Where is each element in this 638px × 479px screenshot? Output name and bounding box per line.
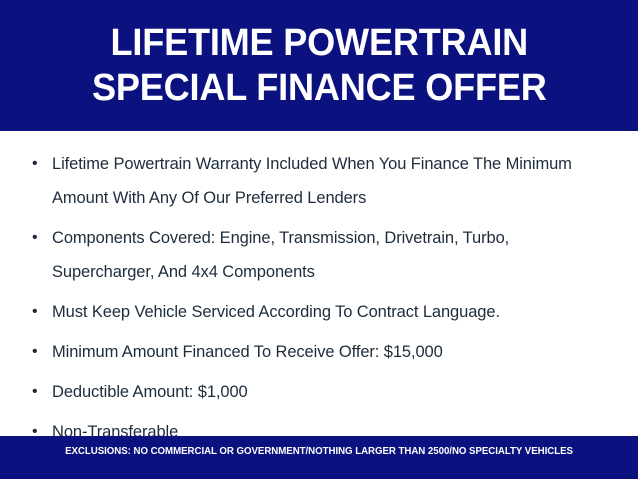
promo-slide: LIFETIME POWERTRAIN SPECIAL FINANCE OFFE… — [0, 0, 638, 479]
bullet-point-icon: • — [32, 147, 46, 181]
list-item-label: Deductible Amount: $1,000 — [52, 375, 598, 409]
offer-details-section: • Lifetime Powertrain Warranty Included … — [0, 131, 638, 436]
list-item-label: Must Keep Vehicle Serviced According To … — [52, 295, 598, 329]
list-item-label: Components Covered: Engine, Transmission… — [52, 221, 598, 289]
bullet-point-icon: • — [32, 221, 46, 255]
list-item: • Must Keep Vehicle Serviced According T… — [26, 295, 598, 329]
list-item: • Minimum Amount Financed To Receive Off… — [26, 335, 598, 369]
list-item: • Deductible Amount: $1,000 — [26, 375, 598, 409]
list-item: • Lifetime Powertrain Warranty Included … — [26, 147, 598, 215]
bullet-point-icon: • — [32, 375, 46, 409]
exclusions-disclaimer: EXCLUSIONS: NO COMMERCIAL OR GOVERNMENT/… — [10, 445, 629, 459]
header-banner: LIFETIME POWERTRAIN SPECIAL FINANCE OFFE… — [0, 0, 638, 131]
list-item-label: Minimum Amount Financed To Receive Offer… — [52, 335, 598, 369]
footer-banner: EXCLUSIONS: NO COMMERCIAL OR GOVERNMENT/… — [0, 436, 638, 479]
page-title: LIFETIME POWERTRAIN SPECIAL FINANCE OFFE… — [92, 21, 547, 111]
list-item-label: Lifetime Powertrain Warranty Included Wh… — [52, 147, 598, 215]
list-item: • Components Covered: Engine, Transmissi… — [26, 221, 598, 289]
offer-bullet-list: • Lifetime Powertrain Warranty Included … — [26, 147, 598, 449]
bullet-point-icon: • — [32, 295, 46, 329]
bullet-point-icon: • — [32, 335, 46, 369]
